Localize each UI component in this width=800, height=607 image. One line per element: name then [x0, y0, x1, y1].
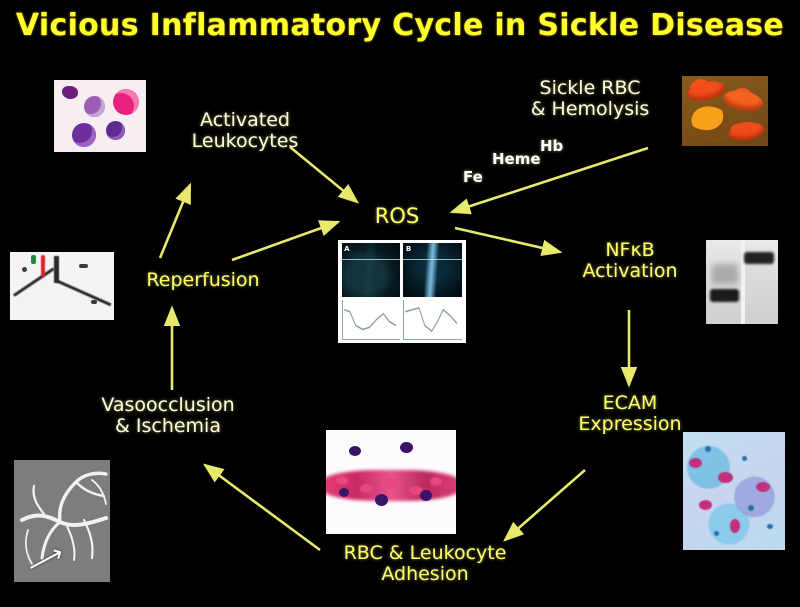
- node-reperfusion: Reperfusion: [128, 270, 278, 291]
- arrow-ecam-to-adhesion: [505, 470, 585, 540]
- leukocyte-nucleus: [349, 446, 361, 456]
- ros-trace-plot-a: [342, 300, 401, 340]
- smear-cell: [84, 96, 105, 117]
- node-ecam: ECAM Expression: [565, 393, 695, 436]
- panel-label-b: B: [406, 245, 411, 253]
- vessel-trace: [424, 243, 439, 297]
- red-arrow-marker: [41, 255, 45, 277]
- node-ros: ROS: [352, 205, 442, 229]
- node-nfkb: NFκB Activation: [565, 240, 695, 283]
- stained-cell: [730, 519, 740, 533]
- stained-nucleus: [705, 446, 711, 452]
- leukocyte-nucleus: [400, 442, 413, 453]
- figure-ecam-immunostain: [683, 432, 785, 550]
- stained-cell: [689, 458, 702, 468]
- panel-label-a: A: [344, 245, 349, 253]
- scan-line: [342, 259, 401, 260]
- pathway-label-fe: Fe: [463, 168, 483, 186]
- leukocyte-nucleus: [375, 494, 388, 506]
- node-nfkb-line2: Activation: [565, 261, 695, 282]
- erythrocyte: [430, 477, 442, 486]
- node-ros-line1: ROS: [352, 205, 442, 229]
- green-marker: [31, 255, 36, 264]
- vessel-branch: [54, 256, 59, 283]
- node-activated-leukocytes-line1: Activated: [170, 110, 320, 131]
- leukocyte-nucleus: [420, 490, 432, 501]
- erythrocyte: [386, 478, 398, 488]
- erythrocyte: [360, 484, 373, 493]
- node-vasoocclusion-line1: Vasoocclusion: [78, 395, 258, 416]
- stained-cell: [718, 472, 733, 483]
- slide-canvas: Vicious Inflammatory Cycle in Sickle Dis…: [0, 0, 800, 607]
- node-nfkb-line1: NFκB: [565, 240, 695, 261]
- arrow-leukocytes-to-ros: [290, 147, 357, 202]
- ros-panel-a: A: [342, 243, 401, 297]
- ros-trace-plot-b: [403, 300, 462, 340]
- smear-cell: [72, 123, 96, 147]
- scan-line: [403, 259, 462, 260]
- gel-background-smear: [712, 264, 738, 284]
- node-vasoocclusion-line2: & Ischemia: [78, 416, 258, 437]
- node-sickle-rbc-line1: Sickle RBC: [505, 78, 675, 99]
- arrow-reperfusion-to-leukocytes: [160, 185, 190, 258]
- pathway-label-hb: Hb: [540, 137, 563, 155]
- arrow-ros-to-nfkb: [455, 228, 560, 252]
- erythrocyte: [336, 476, 348, 485]
- stained-nucleus: [742, 456, 747, 461]
- tissue-speck: [79, 264, 88, 268]
- figure-nfkb-gel-blot: [706, 240, 778, 324]
- stained-nucleus: [748, 505, 754, 511]
- ros-plot-row: [342, 300, 462, 340]
- node-activated-leukocytes: Activated Leukocytes: [170, 110, 320, 153]
- tissue-speck: [22, 267, 27, 272]
- stained-nucleus: [767, 524, 773, 529]
- page-title: Vicious Inflammatory Cycle in Sickle Dis…: [0, 8, 800, 43]
- node-reperfusion-line1: Reperfusion: [128, 270, 278, 291]
- stained-cell: [699, 500, 712, 510]
- node-sickle-rbc-line2: & Hemolysis: [505, 99, 675, 120]
- pathway-label-heme: Heme: [492, 150, 541, 168]
- vessel-trace: [362, 243, 377, 297]
- node-sickle-rbc: Sickle RBC & Hemolysis: [505, 78, 675, 121]
- ros-panel-b: B: [403, 243, 462, 297]
- figure-intravital-vessel: [10, 252, 114, 320]
- node-adhesion-line2: Adhesion: [320, 564, 530, 585]
- node-ecam-line2: Expression: [565, 414, 695, 435]
- node-adhesion: RBC & Leukocyte Adhesion: [320, 543, 530, 586]
- figure-cerebral-angiogram: ⟶: [14, 460, 110, 582]
- node-adhesion-line1: RBC & Leukocyte: [320, 543, 530, 564]
- stained-cell: [756, 482, 770, 492]
- node-activated-leukocytes-line2: Leukocytes: [170, 131, 320, 152]
- rbc-shape: [686, 78, 727, 104]
- smear-cell: [113, 89, 139, 115]
- figure-adhesion-histology: [326, 430, 456, 534]
- smear-cell: [62, 86, 78, 99]
- node-vasoocclusion: Vasoocclusion & Ischemia: [78, 395, 258, 438]
- rbc-shape: [722, 88, 764, 113]
- gel-band: [710, 289, 739, 302]
- sickled-cell-shape: [686, 101, 736, 145]
- figure-sickle-rbc-photo: [682, 76, 768, 146]
- figure-ros-imaging-panel: A B: [338, 240, 466, 343]
- tissue-speck: [91, 300, 97, 304]
- figure-leukocyte-smear: [54, 80, 146, 152]
- stained-nucleus: [714, 531, 719, 536]
- vessel-branch: [55, 279, 111, 307]
- vessel-branch: [13, 268, 55, 298]
- arrow-adhesion-to-vasoocclusion: [205, 465, 320, 550]
- arrow-reperfusion-to-ros: [232, 222, 338, 260]
- node-ecam-line1: ECAM: [565, 393, 695, 414]
- smear-cell: [106, 121, 125, 140]
- gel-band: [744, 252, 774, 264]
- ros-image-row: A B: [342, 243, 462, 297]
